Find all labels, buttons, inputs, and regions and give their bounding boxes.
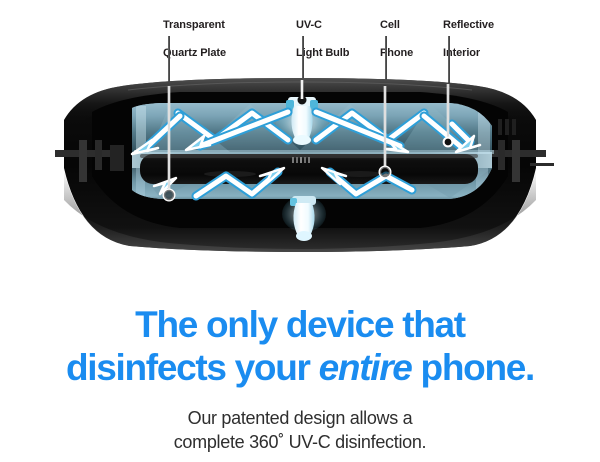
subtitle-line-1: Our patented design allows a <box>0 407 600 431</box>
product-infographic-page: Transparent Quartz Plate UV-C Light Bulb… <box>0 0 600 462</box>
headline-emphasis: entire <box>319 347 412 388</box>
subtitle: Our patented design allows a complete 36… <box>0 407 600 455</box>
uv-sanitizer-diagram <box>0 0 600 262</box>
headline: The only device that disinfects your ent… <box>0 303 600 390</box>
headline-line-1: The only device that <box>0 303 600 346</box>
subtitle-line-2: complete 360˚ UV-C disinfection. <box>0 431 600 455</box>
cell-phone <box>140 154 478 184</box>
headline-line-2-part-a: disinfects your <box>66 347 319 388</box>
headline-line-2: disinfects your entire phone. <box>0 346 600 389</box>
headline-line-2-part-b: phone. <box>412 347 534 388</box>
